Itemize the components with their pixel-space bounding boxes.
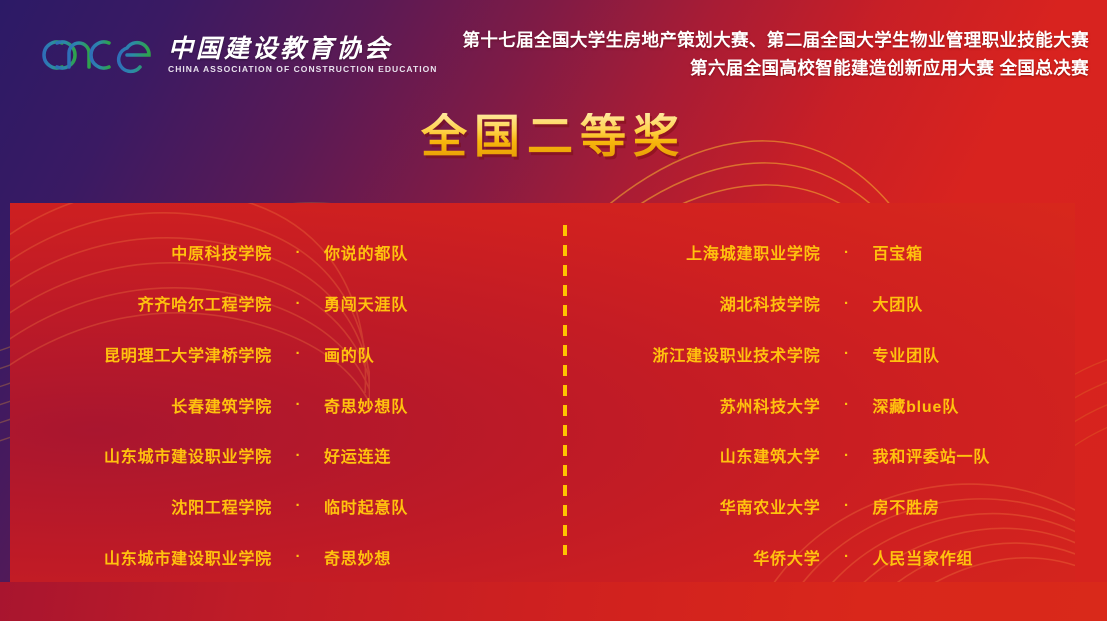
- winner-school: 华侨大学: [571, 545, 821, 569]
- cace-logo-icon: [34, 33, 156, 77]
- winner-school: 齐齐哈尔工程学院: [10, 291, 272, 315]
- winner-school: 苏州科技大学: [571, 393, 821, 417]
- winner-school: 湖北科技学院: [571, 291, 821, 315]
- winner-team: 画的队: [324, 342, 474, 366]
- winner-row: 山东城市建设职业学院 · 奇思妙想: [10, 531, 543, 582]
- winners-columns: 中原科技学院 · 你说的都队 齐齐哈尔工程学院 · 勇闯天涯队 昆明理工大学津桥…: [10, 203, 1075, 582]
- winner-team: 奇思妙想: [324, 545, 474, 569]
- winner-school: 昆明理工大学津桥学院: [10, 342, 272, 366]
- winner-team: 你说的都队: [324, 240, 474, 264]
- winner-team: 好运连连: [324, 443, 474, 467]
- winner-team: 我和评委站一队: [873, 443, 1023, 467]
- winner-team: 人民当家作组: [873, 545, 1023, 569]
- winner-row: 上海城建职业学院 · 百宝箱: [543, 227, 1076, 278]
- winners-panel: 中原科技学院 · 你说的都队 齐齐哈尔工程学院 · 勇闯天涯队 昆明理工大学津桥…: [10, 203, 1075, 582]
- separator-dot: ·: [821, 295, 873, 312]
- winner-team: 专业团队: [873, 342, 1023, 366]
- winner-row: 沈阳工程学院 · 临时起意队: [10, 481, 543, 532]
- separator-dot: ·: [821, 345, 873, 362]
- winner-row: 昆明理工大学津桥学院 · 画的队: [10, 328, 543, 379]
- winner-row: 浙江建设职业技术学院 · 专业团队: [543, 328, 1076, 379]
- winner-row: 华南农业大学 · 房不胜房: [543, 481, 1076, 532]
- competition-title-block: 第十七届全国大学生房地产策划大赛、第二届全国大学生物业管理职业技能大赛 第六届全…: [463, 30, 1090, 80]
- association-name-cn: 中国建设教育协会: [168, 36, 437, 62]
- award-title: 全国二等奖: [0, 113, 1107, 159]
- association-name-block: 中国建设教育协会 CHINA ASSOCIATION OF CONSTRUCTI…: [168, 36, 437, 74]
- separator-dot: ·: [272, 345, 324, 362]
- association-name-en: CHINA ASSOCIATION OF CONSTRUCTION EDUCAT…: [168, 64, 437, 74]
- separator-dot: ·: [272, 548, 324, 565]
- separator-dot: ·: [821, 447, 873, 464]
- winner-school: 山东城市建设职业学院: [10, 443, 272, 467]
- winner-school: 上海城建职业学院: [571, 240, 821, 264]
- competition-title-line-2: 第六届全国高校智能建造创新应用大赛 全国总决赛: [463, 58, 1090, 80]
- bottom-strip: [0, 582, 1107, 621]
- winner-team: 深藏blue队: [873, 393, 1023, 417]
- winner-team: 房不胜房: [873, 494, 1023, 518]
- winner-school: 长春建筑学院: [10, 393, 272, 417]
- separator-dot: ·: [272, 447, 324, 464]
- winner-row: 齐齐哈尔工程学院 · 勇闯天涯队: [10, 278, 543, 329]
- winner-team: 临时起意队: [324, 494, 474, 518]
- winner-school: 浙江建设职业技术学院: [571, 342, 821, 366]
- winner-row: 中原科技学院 · 你说的都队: [10, 227, 543, 278]
- separator-dot: ·: [272, 497, 324, 514]
- winner-row: 苏州科技大学 · 深藏blue队: [543, 379, 1076, 430]
- winner-row: 湖北科技学院 · 大团队: [543, 278, 1076, 329]
- winner-team: 奇思妙想队: [324, 393, 474, 417]
- winner-team: 百宝箱: [873, 240, 1023, 264]
- winner-team: 勇闯天涯队: [324, 291, 474, 315]
- award-slide: 中国建设教育协会 CHINA ASSOCIATION OF CONSTRUCTI…: [0, 0, 1107, 621]
- winner-row: 华侨大学 · 人民当家作组: [543, 531, 1076, 582]
- winner-school: 山东城市建设职业学院: [10, 545, 272, 569]
- winner-school: 沈阳工程学院: [10, 494, 272, 518]
- separator-dot: ·: [821, 244, 873, 261]
- winner-row: 山东建筑大学 · 我和评委站一队: [543, 430, 1076, 481]
- competition-title-line-1: 第十七届全国大学生房地产策划大赛、第二届全国大学生物业管理职业技能大赛: [463, 30, 1090, 52]
- separator-dot: ·: [272, 295, 324, 312]
- separator-dot: ·: [272, 244, 324, 261]
- separator-dot: ·: [272, 396, 324, 413]
- winner-row: 山东城市建设职业学院 · 好运连连: [10, 430, 543, 481]
- slide-header: 中国建设教育协会 CHINA ASSOCIATION OF CONSTRUCTI…: [0, 0, 1107, 110]
- winner-school: 华南农业大学: [571, 494, 821, 518]
- winner-row: 长春建筑学院 · 奇思妙想队: [10, 379, 543, 430]
- winner-school: 中原科技学院: [10, 240, 272, 264]
- winner-school: 山东建筑大学: [571, 443, 821, 467]
- winners-column-left: 中原科技学院 · 你说的都队 齐齐哈尔工程学院 · 勇闯天涯队 昆明理工大学津桥…: [10, 227, 543, 582]
- winner-team: 大团队: [873, 291, 1023, 315]
- winners-column-right: 上海城建职业学院 · 百宝箱 湖北科技学院 · 大团队 浙江建设职业技术学院 ·…: [543, 227, 1076, 582]
- organization-logo: 中国建设教育协会 CHINA ASSOCIATION OF CONSTRUCTI…: [34, 33, 437, 77]
- separator-dot: ·: [821, 396, 873, 413]
- separator-dot: ·: [821, 548, 873, 565]
- separator-dot: ·: [821, 497, 873, 514]
